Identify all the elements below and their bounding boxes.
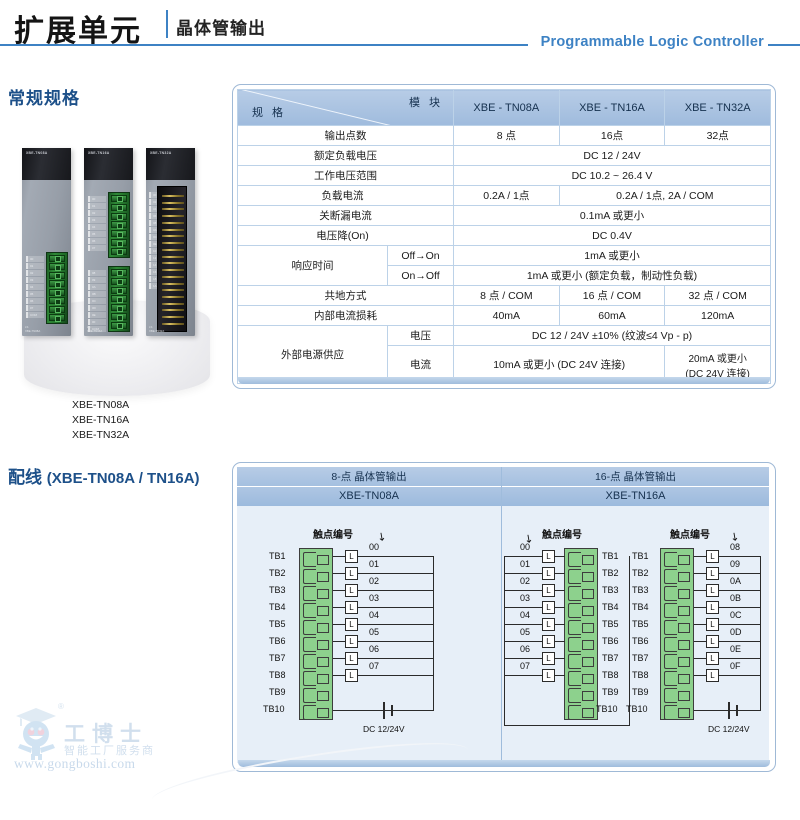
led-indicator: 01 xyxy=(26,263,44,269)
connector-pin xyxy=(162,262,184,264)
led-indicator: 0E xyxy=(88,312,106,318)
lamp-icon: L xyxy=(706,584,719,597)
table-row: 额定负载电压 DC 12 / 24V xyxy=(238,146,771,166)
module-footer-text: LSXBE-TN32A xyxy=(149,325,164,333)
table-corner-cell: 规 格 模 块 xyxy=(238,90,454,126)
column-header-tn16a: XBE - TN16A xyxy=(559,90,665,126)
terminal-screw xyxy=(49,263,65,270)
terminal-slot xyxy=(664,671,690,684)
connector-pin xyxy=(162,283,184,285)
terminal-label: TB3 xyxy=(632,585,649,595)
specifications-table: 规 格 模 块 XBE - TN08A XBE - TN16A XBE - TN… xyxy=(237,89,771,384)
connector-pins xyxy=(162,195,184,325)
led-indicator: 07 xyxy=(88,245,106,251)
wiring-title-right: 16-点 晶体管输出 xyxy=(502,467,769,487)
connector-pin xyxy=(162,235,184,237)
terminal-screw xyxy=(49,280,65,287)
contact-number: 07 xyxy=(369,661,379,671)
row-sublabel: 电流 xyxy=(388,346,454,384)
cell-value: 1mA 或更小 (额定负载，制动性负载) xyxy=(454,266,771,286)
terminal-label: TB8 xyxy=(602,670,619,680)
lamp-icon: L xyxy=(542,601,555,614)
wire-segment xyxy=(333,556,345,557)
terminal-screw xyxy=(111,287,127,294)
terminal-label: TB5 xyxy=(632,619,649,629)
wire-bus-far-right xyxy=(760,556,761,711)
connector-pin xyxy=(162,256,184,258)
cell-value: 32 点 / COM xyxy=(665,286,771,306)
terminal-slot xyxy=(664,654,690,667)
wire-segment xyxy=(358,607,434,608)
wiring-model-left: XBE-TN08A xyxy=(237,487,501,506)
wire-segment xyxy=(719,590,761,591)
contact-number: 08 xyxy=(730,542,740,552)
row-sublabel: Off→On xyxy=(388,246,454,266)
wire-segment xyxy=(720,710,729,711)
connector-pin xyxy=(162,222,184,224)
module-xbe-tn16a: XBE-TN16A 00 01 02 03 04 05 06 07 08 09 … xyxy=(84,148,133,336)
wiring-model-right: XBE-TN16A xyxy=(502,487,769,506)
wire-segment xyxy=(694,675,706,676)
lamp-icon: L xyxy=(345,669,358,682)
registered-mark: ® xyxy=(58,702,64,711)
led-indicator: 0D xyxy=(88,305,106,311)
cell-value: 120mA xyxy=(665,306,771,326)
connector-pin xyxy=(162,303,184,305)
cell-value: 20mA 或更小 (DC 24V 连接) xyxy=(665,346,771,384)
terminal-label: TB1 xyxy=(602,551,619,561)
terminal-screw xyxy=(111,304,127,311)
wire-segment xyxy=(333,573,345,574)
lamp-icon: L xyxy=(542,669,555,682)
terminal-label: TB7 xyxy=(269,653,286,663)
led-indicator: COM xyxy=(26,312,44,318)
module-xbe-tn08a: XBE-TN08A 00 01 02 03 04 05 06 07 COM LS… xyxy=(22,148,71,336)
row-label: 额定负载电压 xyxy=(238,146,454,166)
contact-number: 00 xyxy=(369,542,379,552)
wire-segment xyxy=(358,641,434,642)
terminal-slot xyxy=(303,603,329,616)
contact-number: 0E xyxy=(730,644,741,654)
wire-segment xyxy=(694,658,706,659)
connector-block xyxy=(157,186,187,332)
connector-pin xyxy=(162,289,184,291)
photo-captions: XBE-TN08A XBE-TN16A XBE-TN32A xyxy=(72,398,129,443)
watermark-site: www.gongboshi.com xyxy=(14,756,135,772)
wire-segment xyxy=(358,624,434,625)
wire-segment xyxy=(719,658,761,659)
photo-caption: XBE-TN08A xyxy=(72,398,129,413)
terminal-label: TB3 xyxy=(269,585,286,595)
wiring-body-right: 触点编号 ↘ TB1 TB2 TB3 TB4 xyxy=(502,506,769,763)
terminal-label: TB3 xyxy=(602,585,619,595)
lamp-icon: L xyxy=(345,567,358,580)
led-column-lower: 08 09 0A 0B 0C 0D 0E 0F COM xyxy=(88,270,106,332)
wire-segment xyxy=(504,573,542,574)
corner-module-label: 模 块 xyxy=(409,94,443,110)
led-indicator: 0C xyxy=(88,298,106,304)
terminal-slot xyxy=(568,620,594,633)
lamp-icon: L xyxy=(706,669,719,682)
wire-segment xyxy=(694,624,706,625)
cell-value: 32点 xyxy=(665,126,771,146)
terminal-screw xyxy=(49,306,65,313)
wiring-diagram-panel: 8-点 晶体管输出 XBE-TN08A 触点编号 ↘ xyxy=(232,462,776,772)
terminal-slot xyxy=(568,569,594,582)
terminal-label: TB5 xyxy=(269,619,286,629)
connector-pin xyxy=(162,202,184,204)
terminal-screw xyxy=(111,248,127,255)
table-row: 关断漏电流 0.1mA 或更小 xyxy=(238,206,771,226)
contact-number: 07 xyxy=(520,661,530,671)
wiring-body-left: 触点编号 ↘ TB1 TB2 TB3 xyxy=(237,506,501,763)
header-rule-right xyxy=(768,44,800,46)
contact-number: 03 xyxy=(520,593,530,603)
wire-segment xyxy=(555,556,565,557)
contact-number-header-left: 触点编号 xyxy=(542,526,582,541)
cell-value: 0.1mA 或更小 xyxy=(454,206,771,226)
terminal-slot xyxy=(568,637,594,650)
led-indicator: 01 xyxy=(88,203,106,209)
section-heading-specs: 常规规格 xyxy=(8,84,80,109)
wire-segment xyxy=(694,641,706,642)
terminal-label: TB7 xyxy=(632,653,649,663)
specifications-table-panel: 规 格 模 块 XBE - TN08A XBE - TN16A XBE - TN… xyxy=(232,84,776,389)
wire-bus-left xyxy=(504,556,505,726)
connector-pin xyxy=(162,323,184,325)
wire-segment xyxy=(555,675,565,676)
table-row: 负载电流 0.2A / 1点 0.2A / 1点, 2A / COM xyxy=(238,186,771,206)
column-header-tn32a: XBE - TN32A xyxy=(665,90,771,126)
wire-segment xyxy=(358,675,434,676)
contact-number: 01 xyxy=(520,559,530,569)
terminal-slot xyxy=(664,688,690,701)
terminal-slot xyxy=(303,688,329,701)
module-name-label: XBE-TN08A xyxy=(26,151,48,155)
contact-number: 03 xyxy=(369,593,379,603)
watermark-logo: ® 工博士 智能工厂服务商 www.gongboshi.com xyxy=(6,700,236,782)
wire-segment xyxy=(694,573,706,574)
led-indicator: 0A xyxy=(88,284,106,290)
terminal-slot xyxy=(303,620,329,633)
led-indicator: 00 xyxy=(26,256,44,262)
wiring-heading-sub: (XBE-TN08A / TN16A) xyxy=(47,470,200,487)
wire-segment xyxy=(555,624,565,625)
terminal-slot xyxy=(664,586,690,599)
terminal-label: TB4 xyxy=(269,602,286,612)
terminal-slot xyxy=(568,603,594,616)
lamp-icon: L xyxy=(706,618,719,631)
terminal-label: TB4 xyxy=(632,602,649,612)
wire-segment xyxy=(719,641,761,642)
wire-segment xyxy=(719,573,761,574)
terminal-label: TB2 xyxy=(269,568,286,578)
led-indicator: 09 xyxy=(88,277,106,283)
terminal-label: TB8 xyxy=(269,670,286,680)
table-row: 工作电压范围 DC 10.2 ~ 26.4 V xyxy=(238,166,771,186)
terminal-label: TB1 xyxy=(269,551,286,561)
dc-source-short-bar xyxy=(736,705,738,716)
cell-value: DC 10.2 ~ 26.4 V xyxy=(454,166,771,186)
wire-segment xyxy=(694,590,706,591)
terminal-screw xyxy=(49,289,65,296)
corner-spec-label: 规 格 xyxy=(252,104,286,120)
table-row: 共地方式 8 点 / COM 16 点 / COM 32 点 / COM xyxy=(238,286,771,306)
wire-segment xyxy=(358,573,434,574)
contact-number: 0C xyxy=(730,610,742,620)
wire-segment xyxy=(555,573,565,574)
product-photo: XBE-TN08A 00 01 02 03 04 05 06 07 COM LS… xyxy=(8,112,222,407)
lamp-icon: L xyxy=(706,550,719,563)
module-footer-text: LSXBE-TN08A xyxy=(25,325,40,333)
terminal-screw xyxy=(111,230,127,237)
contact-number: 05 xyxy=(520,627,530,637)
terminal-screw xyxy=(49,272,65,279)
terminal-slot xyxy=(664,620,690,633)
wire-segment xyxy=(719,675,761,676)
page-subtitle: 晶体管输出 xyxy=(176,14,266,39)
lamp-icon: L xyxy=(542,567,555,580)
wire-segment xyxy=(504,641,542,642)
contact-number: 09 xyxy=(730,559,740,569)
led-indicator: 02 xyxy=(88,210,106,216)
lamp-icon: L xyxy=(345,601,358,614)
contact-number-header: 触点编号 xyxy=(313,526,353,541)
terminal-slot xyxy=(568,654,594,667)
dc-supply-label: DC 12/24V xyxy=(363,724,405,734)
terminal-slot xyxy=(664,603,690,616)
dc-source-short-bar xyxy=(391,705,393,716)
terminal-slot xyxy=(664,637,690,650)
terminal-slot xyxy=(568,671,594,684)
wire-segment xyxy=(694,556,706,557)
connector-pin xyxy=(162,316,184,318)
contact-number: 05 xyxy=(369,627,379,637)
contact-number: 0D xyxy=(730,627,742,637)
row-label: 工作电压范围 xyxy=(238,166,454,186)
contact-number-header-right: 触点编号 xyxy=(670,526,710,541)
wire-segment xyxy=(375,710,384,711)
terminal-label: TB10 xyxy=(263,704,285,714)
contact-number: 06 xyxy=(520,644,530,654)
led-indicator: 03 xyxy=(26,277,44,283)
terminal-block-upper xyxy=(108,192,130,258)
terminal-slot xyxy=(664,569,690,582)
terminal-strip-left xyxy=(299,548,333,720)
lamp-icon: L xyxy=(345,635,358,648)
led-indicator: 05 xyxy=(88,231,106,237)
wire-bottom-return xyxy=(504,725,630,726)
lamp-icon: L xyxy=(345,652,358,665)
cell-value: 1mA 或更小 xyxy=(454,246,771,266)
cell-value: 40mA xyxy=(454,306,560,326)
wire-segment xyxy=(333,658,345,659)
terminal-slot xyxy=(568,586,594,599)
cell-value: 10mA 或更小 (DC 24V 连接) xyxy=(454,346,665,384)
contact-number: 06 xyxy=(369,644,379,654)
row-label: 响应时间 xyxy=(238,246,388,286)
connector-pin xyxy=(162,276,184,278)
lamp-icon: L xyxy=(542,550,555,563)
wire-segment xyxy=(504,658,542,659)
row-label: 电压降(On) xyxy=(238,226,454,246)
wire-segment xyxy=(358,590,434,591)
wire-segment xyxy=(504,607,542,608)
wire-segment xyxy=(333,590,345,591)
connector-pin xyxy=(162,269,184,271)
row-label: 外部电源供应 xyxy=(238,326,388,384)
row-label: 共地方式 xyxy=(238,286,454,306)
lamp-icon: L xyxy=(542,635,555,648)
brand-line: Programmable Logic Controller xyxy=(541,34,764,50)
wiring-heading-main: 配线 xyxy=(8,468,42,487)
module-cap: XBE-TN08A xyxy=(22,148,71,180)
terminal-screw xyxy=(111,204,127,211)
dc-supply-label: DC 12/24V xyxy=(708,724,750,734)
terminal-label: TB4 xyxy=(602,602,619,612)
cell-value: 8 点 / COM xyxy=(454,286,560,306)
wire-segment xyxy=(694,607,706,608)
terminal-slot xyxy=(303,586,329,599)
wire-segment xyxy=(333,607,345,608)
lamp-icon: L xyxy=(706,635,719,648)
contact-number: 02 xyxy=(520,576,530,586)
cell-value: 16点 xyxy=(559,126,665,146)
wiring-grid: 8-点 晶体管输出 XBE-TN08A 触点编号 ↘ xyxy=(237,467,771,763)
wire-segment xyxy=(719,556,761,557)
terminal-screw xyxy=(111,221,127,228)
terminal-screw xyxy=(111,322,127,329)
led-indicator: 05 xyxy=(26,291,44,297)
wire-segment xyxy=(719,607,761,608)
terminal-label: TB6 xyxy=(602,636,619,646)
terminal-screw xyxy=(111,313,127,320)
cell-value: 16 点 / COM xyxy=(559,286,665,306)
terminal-screw xyxy=(111,195,127,202)
terminal-label: TB8 xyxy=(632,670,649,680)
terminal-strip-right-right xyxy=(660,548,694,720)
terminal-label: TB2 xyxy=(602,568,619,578)
wire-segment xyxy=(333,675,345,676)
table-header-row: 规 格 模 块 XBE - TN08A XBE - TN16A XBE - TN… xyxy=(238,90,771,126)
led-indicator: 02 xyxy=(26,270,44,276)
terminal-slot xyxy=(303,671,329,684)
terminal-slot xyxy=(664,705,690,718)
wire-segment xyxy=(555,590,565,591)
terminal-label: TB2 xyxy=(632,568,649,578)
table-row: 输出点数 8 点 16点 32点 xyxy=(238,126,771,146)
wire-segment xyxy=(555,607,565,608)
wire-segment xyxy=(333,624,345,625)
terminal-slot xyxy=(303,569,329,582)
lamp-icon: L xyxy=(345,618,358,631)
led-indicator: 08 xyxy=(88,270,106,276)
terminal-block-lower xyxy=(108,266,130,332)
title-divider xyxy=(166,10,168,38)
terminal-label: TB9 xyxy=(632,687,649,697)
contact-number: 01 xyxy=(369,559,379,569)
module-name-label: XBE-TN32A xyxy=(150,151,172,155)
photo-caption: XBE-TN32A xyxy=(72,428,129,443)
led-indicator: 06 xyxy=(88,238,106,244)
wire-bus-right xyxy=(433,556,434,711)
module-cap: XBE-TN32A xyxy=(146,148,195,180)
connector-pin xyxy=(162,208,184,210)
lamp-icon: L xyxy=(542,584,555,597)
row-label: 关断漏电流 xyxy=(238,206,454,226)
terminal-label: TB10 xyxy=(626,704,648,714)
led-indicator: 04 xyxy=(88,224,106,230)
wire-segment xyxy=(504,624,542,625)
contact-number: 0F xyxy=(730,661,741,671)
terminal-slot xyxy=(303,552,329,565)
terminal-screw xyxy=(49,255,65,262)
lamp-icon: L xyxy=(345,550,358,563)
module-footer-text: LSXBE-TN16A xyxy=(87,325,102,333)
terminal-screw xyxy=(49,297,65,304)
lamp-icon: L xyxy=(706,652,719,665)
wire-bus-mid xyxy=(629,556,630,726)
led-indicator: 00 xyxy=(88,196,106,202)
connector-pin xyxy=(162,195,184,197)
wire-segment xyxy=(555,658,565,659)
wire-segment xyxy=(504,675,542,676)
terminal-slot xyxy=(568,688,594,701)
led-indicator: 06 xyxy=(26,298,44,304)
terminal-slot xyxy=(664,552,690,565)
module-cap: XBE-TN16A xyxy=(84,148,133,180)
cell-value: 0.2A / 1点 xyxy=(454,186,560,206)
terminal-slot xyxy=(303,637,329,650)
connector-pin xyxy=(162,309,184,311)
terminal-label: TB9 xyxy=(269,687,286,697)
cell-value: 0.2A / 1点, 2A / COM xyxy=(559,186,770,206)
cell-value: DC 0.4V xyxy=(454,226,771,246)
section-heading-wiring: 配线 (XBE-TN08A / TN16A) xyxy=(8,463,200,488)
row-label: 输出点数 xyxy=(238,126,454,146)
terminal-screw xyxy=(111,269,127,276)
terminal-slot xyxy=(303,705,329,718)
contact-number: 04 xyxy=(520,610,530,620)
terminal-screw xyxy=(111,295,127,302)
contact-number: 0A xyxy=(730,576,741,586)
connector-pin xyxy=(162,242,184,244)
wire-segment xyxy=(358,556,434,557)
terminal-screw xyxy=(49,314,65,321)
terminal-slot xyxy=(303,654,329,667)
led-column-upper: 00 01 02 03 04 05 06 07 xyxy=(88,196,106,251)
terminal-strip-right-left xyxy=(564,548,598,720)
wire-segment xyxy=(555,641,565,642)
terminal-slot xyxy=(568,705,594,718)
header-rule-left xyxy=(0,44,528,46)
module-xbe-tn32a: XBE-TN32A 00 02 04 06 08 0A 0C 0E 10 12 … xyxy=(146,148,195,336)
mascot-icon xyxy=(10,704,66,760)
column-header-tn08a: XBE - TN08A xyxy=(454,90,560,126)
connector-pin xyxy=(162,229,184,231)
terminal-label: TB5 xyxy=(602,619,619,629)
module-name-label: XBE-TN16A xyxy=(88,151,110,155)
terminal-screw xyxy=(111,239,127,246)
row-sublabel: On→Off xyxy=(388,266,454,286)
wiring-title-left: 8-点 晶体管输出 xyxy=(237,467,501,487)
row-sublabel: 电压 xyxy=(388,326,454,346)
terminal-label: TB6 xyxy=(269,636,286,646)
led-indicator: 0B xyxy=(88,291,106,297)
cell-value: 8 点 xyxy=(454,126,560,146)
table-row: 电压降(On) DC 0.4V xyxy=(238,226,771,246)
wire-segment xyxy=(504,556,542,557)
